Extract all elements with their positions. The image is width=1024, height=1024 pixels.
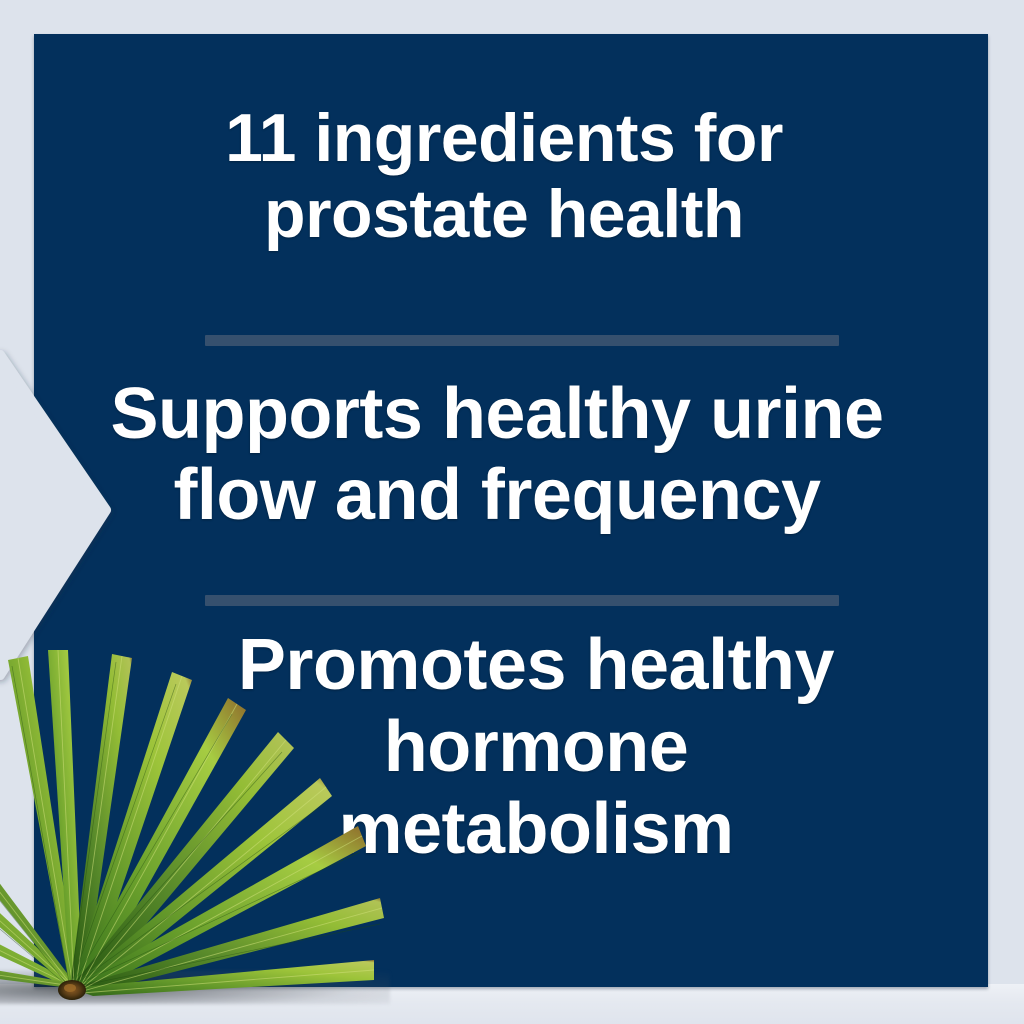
divider-rule <box>205 595 839 606</box>
benefit-item-ingredient-count: 11 ingredients for prostate health <box>34 100 988 252</box>
ground-surface <box>0 984 1024 1024</box>
benefit-item-urine-flow: Supports healthy urine flow and frequenc… <box>34 374 988 537</box>
divider-rule <box>205 335 839 346</box>
benefit-line: metabolism <box>94 788 978 870</box>
benefit-line: 11 ingredients for <box>34 100 974 176</box>
benefit-line: flow and frequency <box>34 455 960 536</box>
benefit-line: Supports healthy urine <box>34 374 960 455</box>
promo-graphic: 11 ingredients for prostate health Suppo… <box>0 0 1024 1024</box>
benefit-line: Promotes healthy <box>94 624 978 706</box>
benefit-line: hormone <box>94 706 978 788</box>
benefits-list: 11 ingredients for prostate health Suppo… <box>34 34 988 987</box>
benefit-line: prostate health <box>34 176 974 252</box>
benefit-item-hormone-metabolism: Promotes healthy hormone metabolism <box>34 624 988 870</box>
